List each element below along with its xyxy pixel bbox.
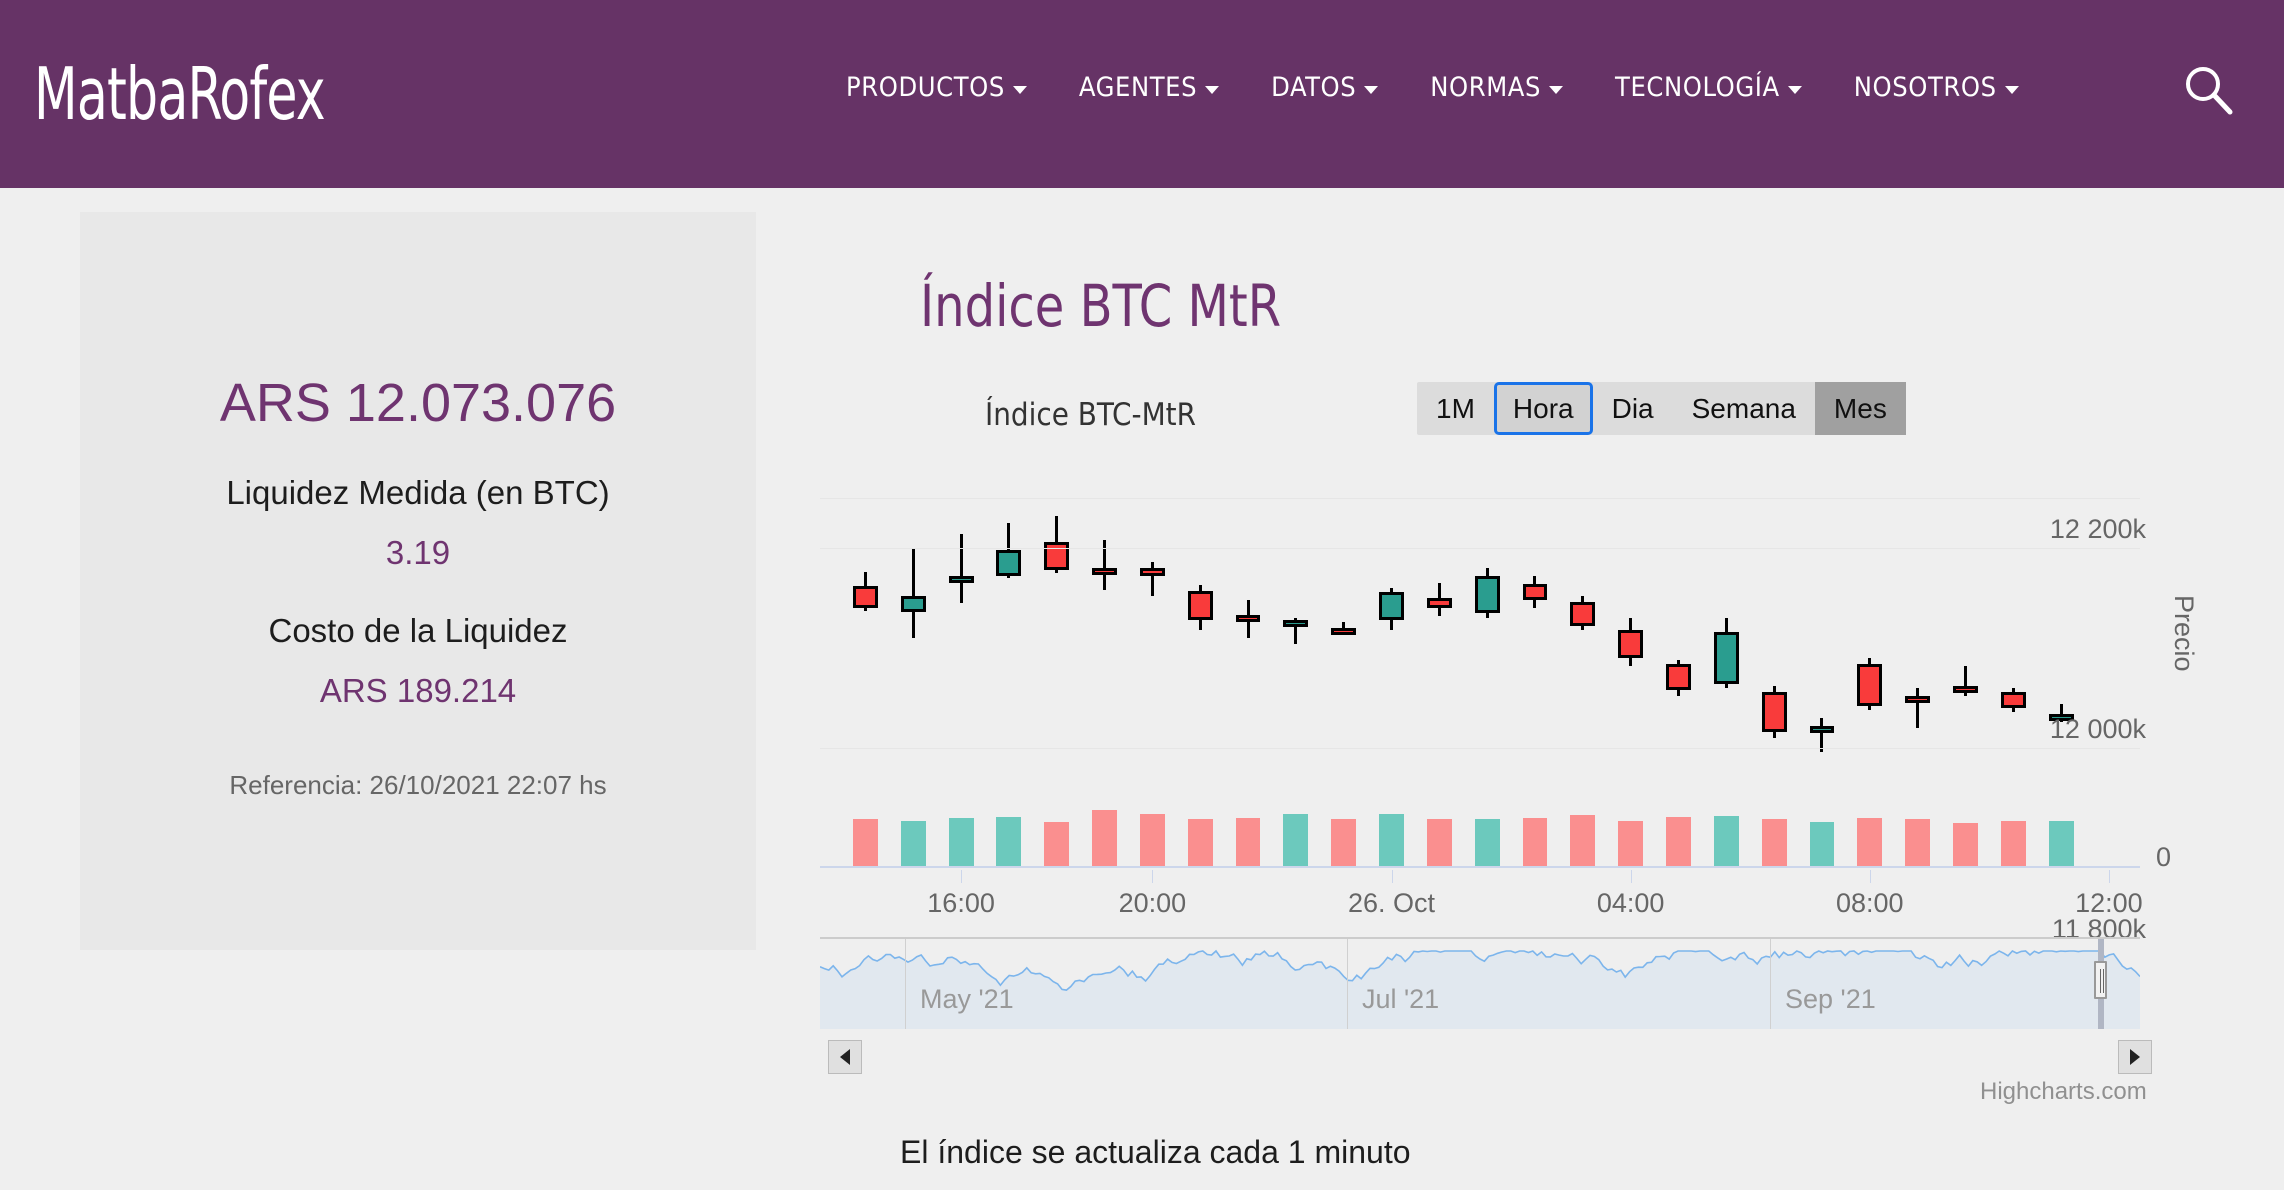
volume-bar[interactable] [1427,819,1452,866]
candle-body [901,596,926,612]
volume-bar[interactable] [1475,819,1500,866]
volume-bar[interactable] [1570,815,1595,866]
candlestick-point[interactable] [1092,498,1117,798]
volume-bar[interactable] [901,821,926,866]
y-axis-title: Precio [2168,595,2199,672]
candlestick-point[interactable] [1618,498,1643,798]
range-button-dia[interactable]: Dia [1593,382,1673,435]
volume-bar[interactable] [1140,814,1165,866]
volume-bar[interactable] [1283,814,1308,866]
volume-bar[interactable] [1044,822,1069,866]
range-button-1m[interactable]: 1M [1417,382,1494,435]
nav-item-nosotros[interactable]: NOSOTROS [1828,72,2045,103]
gridline [820,548,2140,549]
volume-bar[interactable] [1379,814,1404,866]
range-button-mes[interactable]: Mes [1815,382,1906,435]
candle-body [1379,592,1404,620]
volume-bar[interactable] [1714,816,1739,866]
volume-bar[interactable] [2049,821,2074,866]
reference-timestamp: Referencia: 26/10/2021 22:07 hs [80,770,756,801]
volume-bar[interactable] [1810,822,1835,866]
y-axis-tick-label: 12 000k [2050,714,2146,745]
liquidity-cost-value: ARS 189.214 [80,672,756,710]
x-axis-tick-label: 12:00 [2075,888,2143,919]
nav-item-normas[interactable]: NORMAS [1404,72,1589,103]
x-axis-tick-label: 26. Oct [1348,888,1435,919]
volume-bar[interactable] [1236,818,1261,866]
candlestick-point[interactable] [1857,498,1882,798]
chevron-down-icon [1788,86,1802,94]
volume-bar[interactable] [1092,810,1117,866]
candle-wick [912,548,915,638]
chevron-down-icon [1549,86,1563,94]
volume-bar[interactable] [1953,823,1978,866]
navigator-series [820,939,2140,1029]
candle-body [1044,542,1069,570]
candlestick-point[interactable] [1331,498,1356,798]
candlestick-point[interactable] [1714,498,1739,798]
nav-label: NORMAS [1430,72,1541,103]
site-header: MatbaRofex PRODUCTOS AGENTES DATOS NORMA… [0,0,2284,188]
candlestick-point[interactable] [949,498,974,798]
navigator-label-jul: Jul '21 [1362,984,1439,1015]
candle-body [1810,726,1835,733]
arrow-left-icon [840,1049,850,1065]
volume-bar[interactable] [1523,818,1548,866]
candle-body [1905,696,1930,703]
candle-body [1762,692,1787,732]
gridline [820,748,2140,749]
candle-body [1427,598,1452,608]
candle-body [996,550,1021,576]
volume-axis-zero-label: 0 [2156,842,2171,873]
candle-body [1714,632,1739,684]
candlestick-point[interactable] [1044,498,1069,798]
candlestick-point[interactable] [1379,498,1404,798]
candle-body [1092,568,1117,575]
candle-body [1666,664,1691,690]
x-axis-tick [1392,870,1393,883]
candlestick-series[interactable] [820,498,2140,798]
candle-body [1475,576,1500,613]
candlestick-point[interactable] [1283,498,1308,798]
volume-bar[interactable] [1188,819,1213,866]
candlestick-chart: Índice BTC-MtR 1M Hora Dia Semana Mes 12… [820,380,2220,1120]
candle-body [1331,628,1356,635]
liquidity-cost-label: Costo de la Liquidez [80,612,756,650]
volume-bar[interactable] [1857,818,1882,866]
candlestick-point[interactable] [1140,498,1165,798]
volume-bar[interactable] [1331,819,1356,866]
candlestick-point[interactable] [1810,498,1835,798]
liquidity-value: 3.19 [80,534,756,572]
x-axis-tick-label: 16:00 [927,888,995,919]
x-axis-tick-label: 20:00 [1119,888,1187,919]
page-title: Índice BTC MtR [920,272,1281,340]
nav-label: PRODUCTOS [846,72,1005,103]
candle-body [1953,686,1978,693]
navigator-handle-right[interactable] [2094,961,2107,999]
candlestick-point[interactable] [1953,498,1978,798]
arrow-right-icon [2130,1049,2140,1065]
chevron-down-icon [1013,86,1027,94]
candlestick-point[interactable] [1427,498,1452,798]
candlestick-point[interactable] [853,498,878,798]
candlestick-point[interactable] [901,498,926,798]
highcharts-credit-link[interactable]: Highcharts.com [1980,1078,2147,1106]
nav-item-tecnologia[interactable]: TECNOLOGÍA [1589,72,1828,103]
candlestick-point[interactable] [1523,498,1548,798]
chart-navigator[interactable]: May '21 Jul '21 Sep '21 [820,937,2140,1027]
x-axis-tick-label: 08:00 [1836,888,1904,919]
candle-body [949,576,974,583]
candle-body [1618,630,1643,658]
chevron-down-icon [1205,86,1219,94]
candle-body [1570,602,1595,626]
nav-label: AGENTES [1079,72,1197,103]
volume-bar[interactable] [949,818,974,866]
volume-series[interactable] [820,800,2140,868]
search-icon[interactable] [2180,62,2236,118]
volume-bar[interactable] [996,817,1021,866]
x-axis-tick [1631,870,1632,883]
candle-body [1236,615,1261,622]
navigator-scroll-left-button[interactable] [828,1040,862,1074]
chart-title: Índice BTC-MtR [985,397,1196,433]
index-summary-card: ARS 12.073.076 Liquidez Medida (en BTC) … [80,212,756,950]
x-axis-tick-label: 04:00 [1597,888,1665,919]
range-button-hora[interactable]: Hora [1494,382,1593,435]
brand-logo[interactable]: MatbaRofex [34,58,325,130]
liquidity-label: Liquidez Medida (en BTC) [80,474,756,512]
candlestick-point[interactable] [1188,498,1213,798]
x-axis: 16:0020:0026. Oct04:0008:0012:00 [820,870,2140,920]
chevron-down-icon [2005,86,2019,94]
y-axis-tick-label: 12 200k [2050,514,2146,545]
candlestick-point[interactable] [1236,498,1261,798]
nav-label: TECNOLOGÍA [1615,72,1780,103]
volume-bar[interactable] [1666,817,1691,866]
candlestick-point[interactable] [1475,498,1500,798]
volume-bar[interactable] [2001,821,2026,866]
candlestick-point[interactable] [1666,498,1691,798]
volume-bar[interactable] [1762,819,1787,866]
main-navigation: PRODUCTOS AGENTES DATOS NORMAS TECNOLOGÍ… [820,72,2045,103]
x-axis-tick [961,870,962,883]
chart-footnote: El índice se actualiza cada 1 minuto [900,1134,1411,1171]
x-axis-tick [1152,870,1153,883]
range-button-semana[interactable]: Semana [1673,382,1815,435]
price-plot-area[interactable]: 12 200k12 000k11 800k [820,498,2140,798]
candlestick-point[interactable] [1905,498,1930,798]
x-axis-tick [1870,870,1871,883]
candle-body [1188,591,1213,620]
volume-bar[interactable] [1905,819,1930,866]
navigator-label-may: May '21 [920,984,1014,1015]
navigator-scroll-right-button[interactable] [2118,1040,2152,1074]
range-selector: 1M Hora Dia Semana Mes [1417,382,1906,435]
nav-item-datos[interactable]: DATOS [1245,72,1404,103]
candle-body [853,586,878,608]
chevron-down-icon [1364,86,1378,94]
candle-body [1283,620,1308,627]
volume-bar[interactable] [1618,821,1643,866]
candle-wick [960,534,963,603]
candle-body [1523,584,1548,600]
nav-item-agentes[interactable]: AGENTES [1053,72,1245,103]
candlestick-point[interactable] [2001,498,2026,798]
candlestick-point[interactable] [996,498,1021,798]
nav-label: DATOS [1271,72,1356,103]
nav-item-productos[interactable]: PRODUCTOS [820,72,1053,103]
candlestick-point[interactable] [1762,498,1787,798]
candle-body [1857,664,1882,706]
candle-wick [1916,688,1919,728]
candle-body [1140,568,1165,576]
candle-body [2001,692,2026,708]
navigator-label-sep: Sep '21 [1785,984,1876,1015]
nav-label: NOSOTROS [1854,72,1997,103]
volume-bar[interactable] [853,819,878,866]
candlestick-point[interactable] [1570,498,1595,798]
x-axis-tick [2109,870,2110,883]
index-price-value: ARS 12.073.076 [80,372,756,434]
candle-wick [1820,718,1823,752]
